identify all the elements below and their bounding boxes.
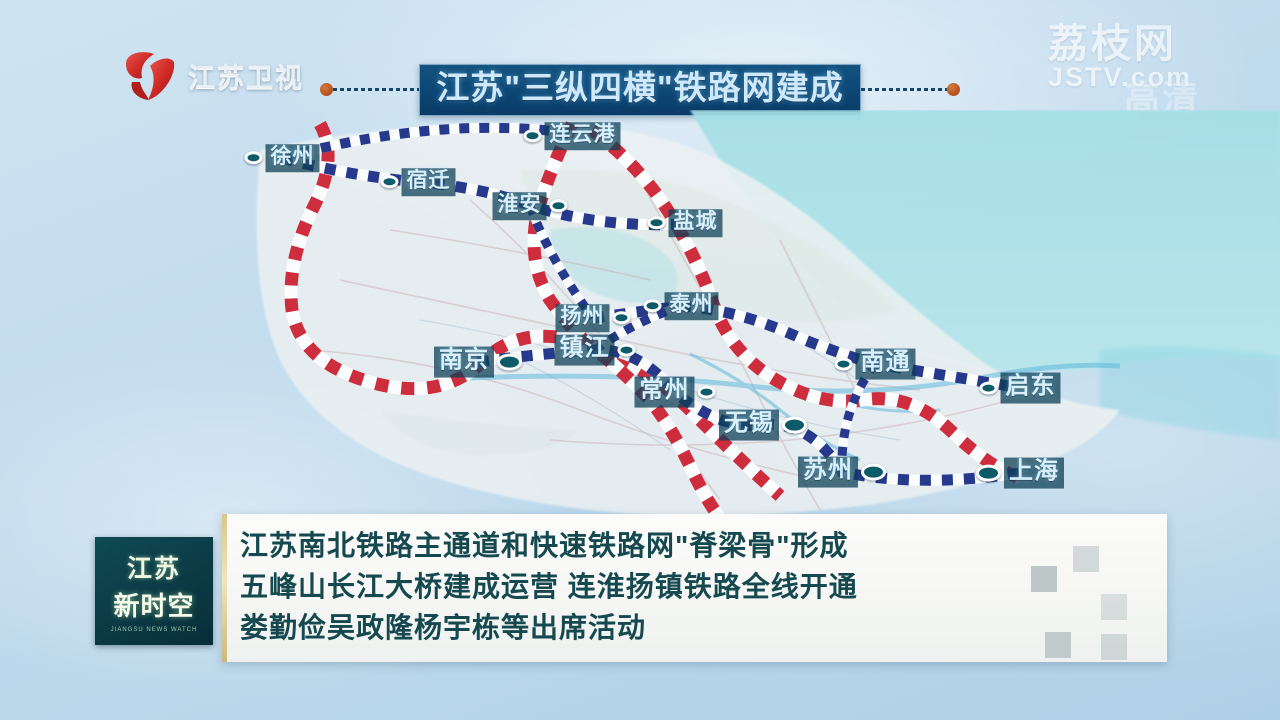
- city-label: 南京: [434, 347, 494, 378]
- watermark-cn: 荔枝网: [1048, 24, 1192, 64]
- city-label: 扬州: [556, 304, 610, 332]
- city-marker-xuzhou[interactable]: 徐州: [245, 144, 320, 172]
- city-marker-huaian[interactable]: 淮安: [493, 192, 568, 220]
- station-dot-icon: [550, 199, 568, 212]
- city-marker-qidong[interactable]: 启东: [980, 373, 1061, 404]
- city-marker-nantong[interactable]: 南通: [835, 349, 916, 380]
- program-logo-line2: 新时空: [113, 586, 194, 623]
- bullet-dot-icon-right: [947, 83, 960, 96]
- city-marker-shanghai[interactable]: 上海: [976, 458, 1064, 489]
- city-label: 徐州: [266, 144, 320, 172]
- program-logo-line1: 江苏: [127, 549, 181, 585]
- news-subtitle-panel: 江苏南北铁路主通道和快速铁路网"脊梁骨"形成 五峰山长江大桥建成运营 连淮扬镇铁…: [222, 514, 1167, 662]
- bullet-dot-icon-left: [320, 83, 333, 96]
- city-label: 淮安: [493, 192, 547, 220]
- city-label: 无锡: [719, 410, 779, 441]
- station-dot-icon: [245, 151, 263, 164]
- station-dot-icon: [644, 299, 662, 312]
- city-label: 连云港: [545, 122, 621, 150]
- decorative-mosaic: [967, 542, 1167, 662]
- station-dot-icon: [835, 358, 853, 371]
- city-marker-lianyungang[interactable]: 连云港: [524, 122, 621, 150]
- station-dot-icon: [618, 344, 636, 357]
- city-label: 南通: [856, 349, 916, 380]
- program-logo: 江苏 新时空 JIANGSU NEWS WATCH: [95, 537, 213, 645]
- banner-dotted-line-right: [861, 88, 947, 91]
- city-label: 宿迁: [402, 168, 456, 196]
- station-dot-icon: [782, 417, 807, 434]
- city-label: 常州: [635, 377, 695, 408]
- city-label: 盐城: [669, 209, 723, 237]
- headline-banner-row: 江苏"三纵四横"铁路网建成: [0, 64, 1280, 116]
- city-marker-suqian[interactable]: 宿迁: [381, 168, 456, 196]
- city-label: 泰州: [665, 292, 719, 320]
- city-marker-zhenjiang[interactable]: 镇江: [555, 335, 636, 366]
- city-marker-yangzhou[interactable]: 扬州: [556, 304, 631, 332]
- map-graphic: [220, 110, 1280, 530]
- city-marker-wuxi[interactable]: 无锡: [719, 410, 807, 441]
- headline-title: 江苏"三纵四横"铁路网建成: [419, 64, 860, 116]
- city-marker-suzhou[interactable]: 苏州: [798, 457, 886, 488]
- city-label: 上海: [1004, 458, 1064, 489]
- program-logo-en: JIANGSU NEWS WATCH: [111, 627, 198, 633]
- station-dot-icon: [524, 129, 542, 142]
- city-marker-nanjing[interactable]: 南京: [434, 347, 522, 378]
- station-dot-icon: [980, 382, 998, 395]
- station-dot-icon: [613, 311, 631, 324]
- railway-network-map: 徐州 连云港 宿迁 淮安 盐城 泰州 扬州 南京 镇江 南通 启东 常: [220, 110, 1280, 530]
- city-marker-yancheng[interactable]: 盐城: [648, 209, 723, 237]
- city-label: 苏州: [798, 457, 858, 488]
- station-dot-icon: [381, 175, 399, 188]
- station-dot-icon: [648, 216, 666, 229]
- station-dot-icon: [861, 464, 886, 481]
- station-dot-icon: [698, 386, 716, 399]
- city-marker-taizhou[interactable]: 泰州: [644, 292, 719, 320]
- city-label: 启东: [1001, 373, 1061, 404]
- banner-dotted-line-left: [333, 88, 419, 91]
- station-dot-icon: [497, 354, 522, 371]
- station-dot-icon: [976, 465, 1001, 482]
- city-marker-changzhou[interactable]: 常州: [635, 377, 716, 408]
- city-label: 镇江: [555, 335, 615, 366]
